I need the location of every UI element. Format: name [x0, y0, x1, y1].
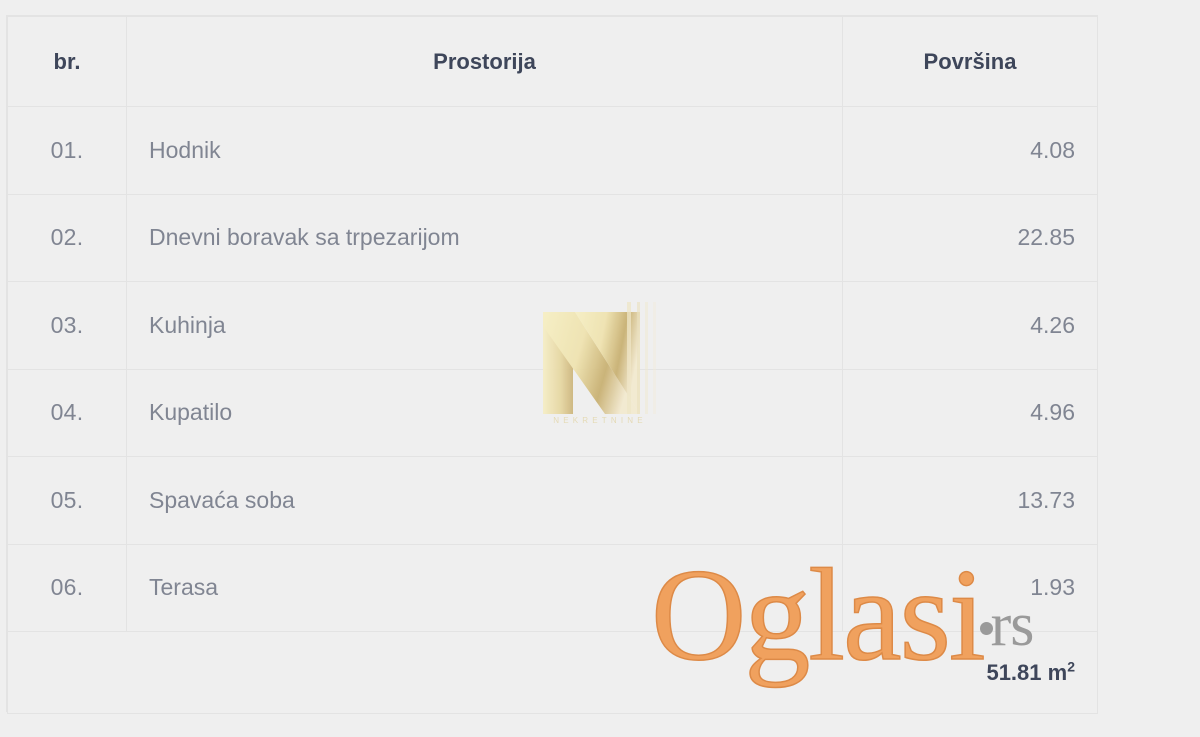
- table-row: 03. Kuhinja 4.26: [8, 282, 1098, 370]
- column-header-number: br.: [8, 17, 127, 107]
- table-row: 05. Spavaća soba 13.73: [8, 457, 1098, 545]
- table-body: 01. Hodnik 4.08 02. Dnevni boravak sa tr…: [8, 107, 1098, 632]
- table-header-row: br. Prostorija Površina: [8, 17, 1098, 107]
- table-footer-row: 51.81 m2: [8, 632, 1098, 714]
- room-area-table: br. Prostorija Površina 01. Hodnik 4.08 …: [7, 16, 1098, 714]
- cell-number: 05.: [8, 457, 127, 545]
- total-area-value: 51.81 m2: [986, 660, 1075, 685]
- cell-number: 03.: [8, 282, 127, 370]
- cell-room: Hodnik: [127, 107, 843, 195]
- cell-number: 06.: [8, 544, 127, 632]
- cell-area: 4.26: [843, 282, 1098, 370]
- table-row: 01. Hodnik 4.08: [8, 107, 1098, 195]
- table-row: 06. Terasa 1.93: [8, 544, 1098, 632]
- cell-room: Dnevni boravak sa trpezarijom: [127, 194, 843, 282]
- cell-area: 1.93: [843, 544, 1098, 632]
- total-area-cell: 51.81 m2: [8, 632, 1098, 714]
- cell-area: 13.73: [843, 457, 1098, 545]
- cell-room: Terasa: [127, 544, 843, 632]
- cell-room: Kuhinja: [127, 282, 843, 370]
- page-root: br. Prostorija Površina 01. Hodnik 4.08 …: [0, 0, 1200, 737]
- cell-area: 4.96: [843, 369, 1098, 457]
- table-footer: 51.81 m2: [8, 632, 1098, 714]
- cell-number: 02.: [8, 194, 127, 282]
- table-row: 02. Dnevni boravak sa trpezarijom 22.85: [8, 194, 1098, 282]
- cell-number: 01.: [8, 107, 127, 195]
- column-header-area: Površina: [843, 17, 1098, 107]
- column-header-room: Prostorija: [127, 17, 843, 107]
- table-row: 04. Kupatilo 4.96: [8, 369, 1098, 457]
- room-area-table-container: br. Prostorija Površina 01. Hodnik 4.08 …: [6, 15, 1098, 712]
- table-header: br. Prostorija Površina: [8, 17, 1098, 107]
- cell-room: Kupatilo: [127, 369, 843, 457]
- cell-number: 04.: [8, 369, 127, 457]
- cell-room: Spavaća soba: [127, 457, 843, 545]
- cell-area: 22.85: [843, 194, 1098, 282]
- cell-area: 4.08: [843, 107, 1098, 195]
